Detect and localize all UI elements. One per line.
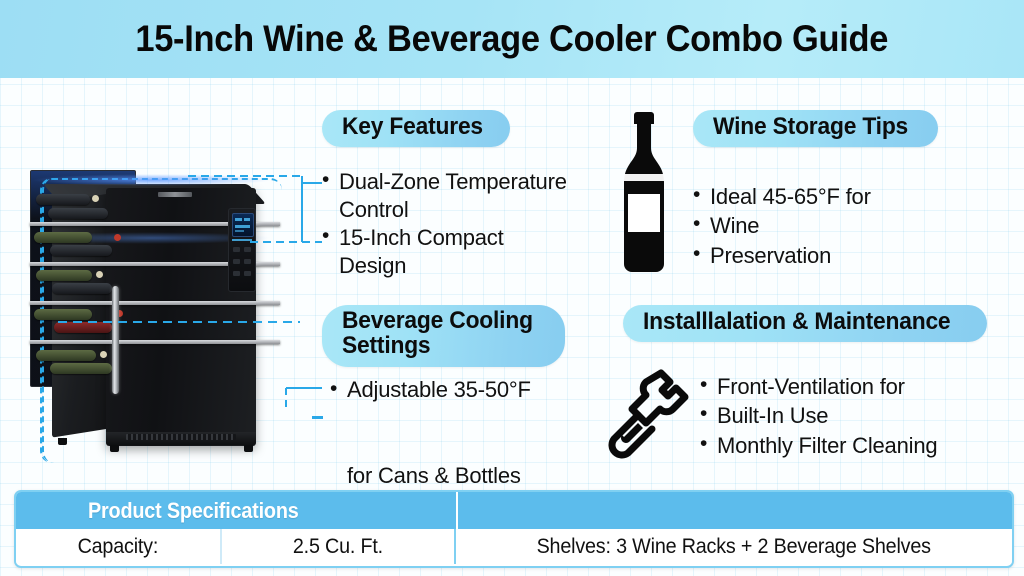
list-item: Ideal 45-65°F for [693,182,943,211]
badge-label: Beverage Cooling Settings [342,309,533,359]
table-row: Capacity: 2.5 Cu. Ft. Shelves: 3 Wine Ra… [16,529,1012,564]
list-item: Dual-Zone Temperature Control [322,168,592,224]
brand-logo [158,192,192,197]
wine-bottle-icon [616,108,672,276]
header-banner: 15-Inch Wine & Beverage Cooler Combo Gui… [0,0,1024,78]
list-item: Adjustable 35-50°F [330,376,570,405]
product-specifications-table: Product Specifications Capacity: 2.5 Cu.… [14,490,1014,568]
lcd-display [232,213,254,237]
table-header-row: Product Specifications [16,492,1012,529]
badge-wine-storage-tips: Wine Storage Tips [693,110,938,147]
list-item: Wine [693,211,943,240]
front-vent [126,434,236,440]
table-header-cell-empty [458,492,1012,529]
page-title: 15-Inch Wine & Beverage Cooler Combo Gui… [136,18,889,60]
list-item-label: for Cans & Bottles [347,463,521,488]
product-image [30,170,280,455]
wrench-icon [598,362,696,462]
list-item: for Cans & Bottles [330,405,570,491]
list-item: Preservation [693,241,943,270]
table-header-cell: Product Specifications [16,492,458,529]
list-item: 15-Inch Compact Design [322,224,592,280]
list-item: Monthly Filter Cleaning [700,431,1000,460]
table-cell-capacity-label: Capacity: [16,529,222,564]
badge-installation-maintenance: Installlalation & Maintenance [623,305,987,342]
badge-beverage-cooling-settings: Beverage Cooling Settings [322,305,565,367]
badge-label: Wine Storage Tips [713,115,908,140]
section-wine-storage-tips: Ideal 45-65°F for Wine Preservation [693,182,943,270]
badge-label: Installlalation & Maintenance [643,310,950,335]
badge-key-features: Key Features [322,110,510,147]
list-item: Built-In Use [700,401,1000,430]
door-handle [112,286,119,394]
list-item: Front-Ventilation for [700,372,1000,401]
section-installation-maintenance: Front-Ventilation for Built-In Use Month… [700,372,1000,460]
table-cell-capacity-value: 2.5 Cu. Ft. [222,529,456,564]
control-panel [228,208,256,292]
table-header-label: Product Specifications [88,498,299,524]
table-cell-shelves: Shelves: 3 Wine Racks + 2 Beverage Shelv… [456,529,1012,564]
infographic-page: 15-Inch Wine & Beverage Cooler Combo Gui… [0,0,1024,576]
section-key-features: Dual-Zone Temperature Control 15-Inch Co… [322,168,592,281]
badge-label: Key Features [342,115,483,140]
section-beverage-cooling-settings: Adjustable 35-50°F for Cans & Bottles [330,376,570,490]
dash-marker-icon [312,416,323,419]
